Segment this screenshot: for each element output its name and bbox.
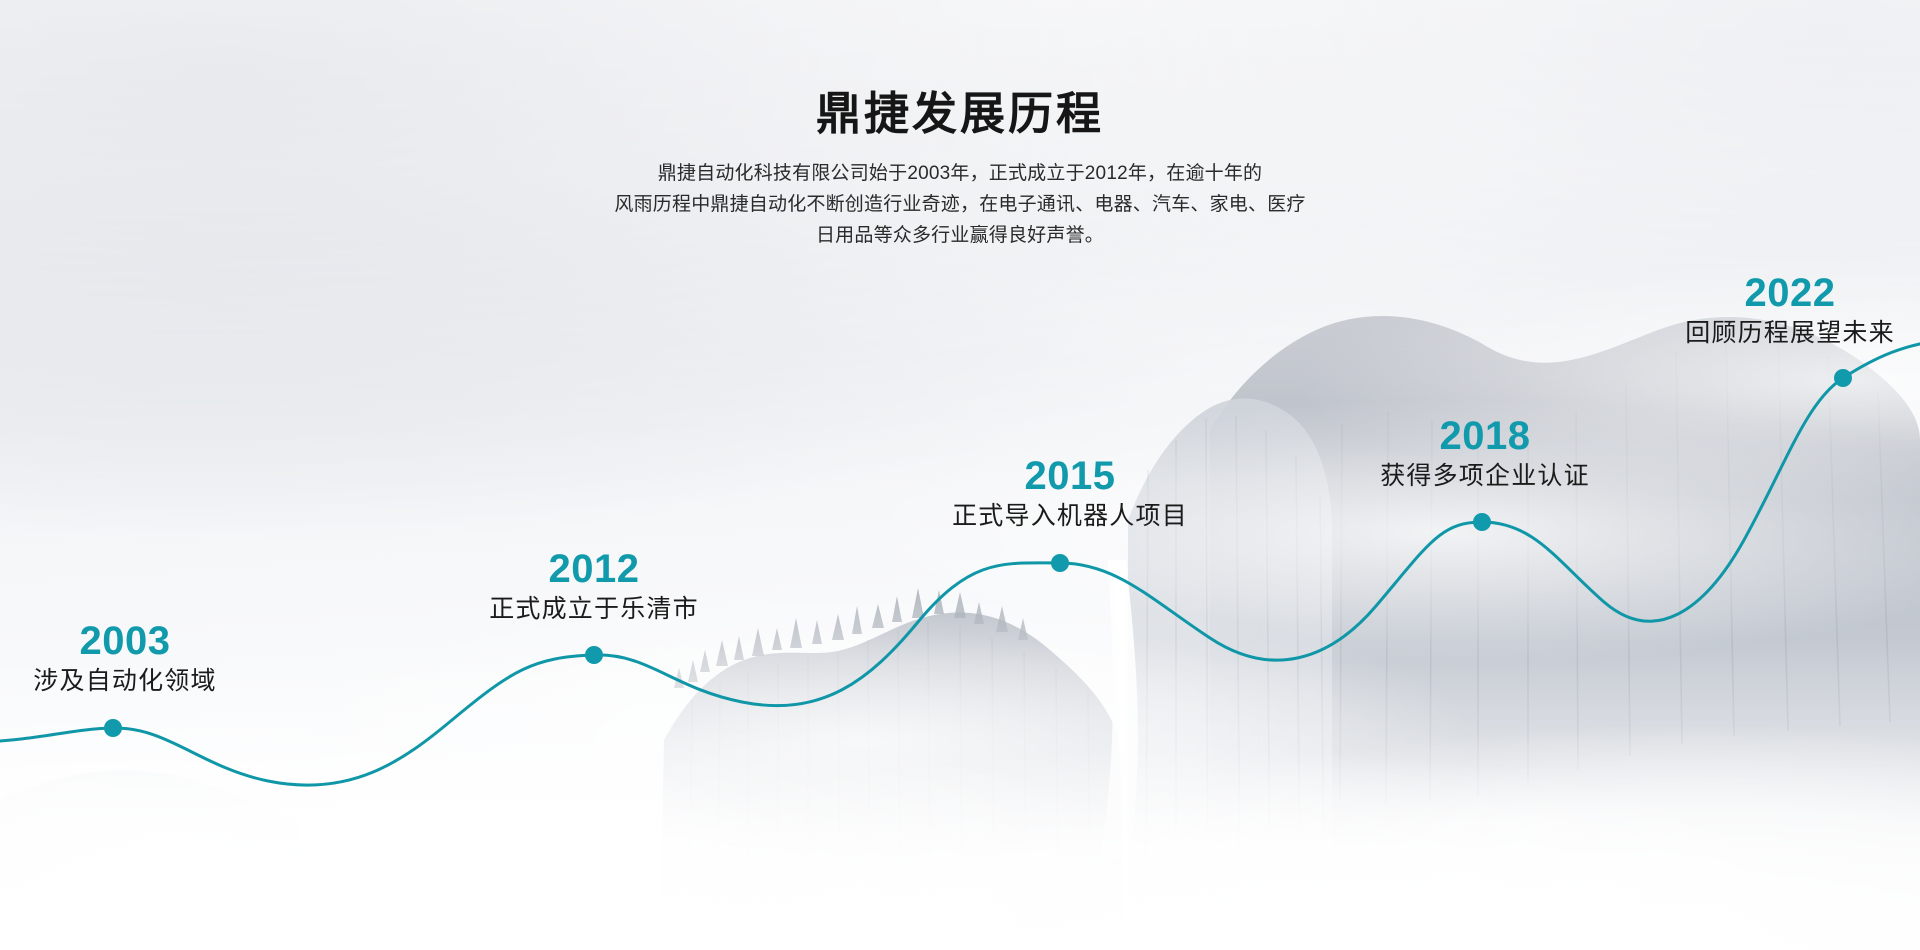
milestone-2015[interactable]: 2015正式导入机器人项目 xyxy=(952,455,1188,532)
milestone-2022[interactable]: 2022回顾历程展望未来 xyxy=(1685,272,1895,349)
milestone-2012[interactable]: 2012正式成立于乐清市 xyxy=(489,548,699,625)
header-block: 鼎捷发展历程 鼎捷自动化科技有限公司始于2003年，正式成立于2012年，在逾十… xyxy=(0,88,1920,251)
subtitle-line-1: 鼎捷自动化科技有限公司始于2003年，正式成立于2012年，在逾十年的 xyxy=(540,158,1380,189)
timeline-dot-2015[interactable] xyxy=(1051,554,1069,572)
milestone-desc-2022: 回顾历程展望未来 xyxy=(1685,318,1895,349)
milestone-2018[interactable]: 2018获得多项企业认证 xyxy=(1380,415,1590,492)
milestone-desc-2018: 获得多项企业认证 xyxy=(1380,461,1590,492)
timeline-infographic-page: 鼎捷发展历程 鼎捷自动化科技有限公司始于2003年，正式成立于2012年，在逾十… xyxy=(0,0,1920,950)
milestone-year-2018: 2018 xyxy=(1380,415,1590,457)
timeline-dot-2012[interactable] xyxy=(585,646,603,664)
milestone-year-2022: 2022 xyxy=(1685,272,1895,314)
subtitle-line-3: 日用品等众多行业赢得良好声誉。 xyxy=(540,220,1380,251)
milestone-desc-2003: 涉及自动化领域 xyxy=(33,666,216,697)
milestone-2003[interactable]: 2003涉及自动化领域 xyxy=(33,620,216,697)
page-subtitle: 鼎捷自动化科技有限公司始于2003年，正式成立于2012年，在逾十年的 风雨历程… xyxy=(540,158,1380,251)
timeline-curve-line xyxy=(0,342,1920,785)
milestone-year-2015: 2015 xyxy=(952,455,1188,497)
milestone-desc-2015: 正式导入机器人项目 xyxy=(952,501,1188,532)
timeline-dot-2018[interactable] xyxy=(1473,513,1491,531)
timeline-dot-2022[interactable] xyxy=(1834,369,1852,387)
milestone-desc-2012: 正式成立于乐清市 xyxy=(489,594,699,625)
page-title: 鼎捷发展历程 xyxy=(0,88,1920,140)
timeline-dot-2003[interactable] xyxy=(104,719,122,737)
milestone-year-2012: 2012 xyxy=(489,548,699,590)
milestone-year-2003: 2003 xyxy=(33,620,216,662)
subtitle-line-2: 风雨历程中鼎捷自动化不断创造行业奇迹，在电子通讯、电器、汽车、家电、医疗 xyxy=(540,189,1380,220)
